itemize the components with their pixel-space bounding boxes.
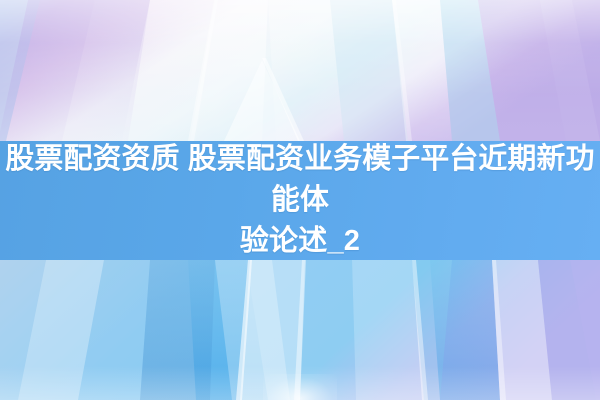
banner-title-line-1: 股票配资资质 股票配资业务模子平台近期新功能体	[3, 139, 596, 221]
banner-title: 股票配资资质 股票配资业务模子平台近期新功能体 验论述_2	[2, 139, 598, 262]
banner-image: 股票配资资质 股票配资业务模子平台近期新功能体 验论述_2	[0, 0, 600, 400]
background-top-section	[0, 0, 600, 141]
background-bottom-section	[0, 260, 600, 400]
banner-title-line-2: 验论述_2	[2, 221, 598, 262]
title-band: 股票配资资质 股票配资业务模子平台近期新功能体 验论述_2	[0, 141, 600, 260]
